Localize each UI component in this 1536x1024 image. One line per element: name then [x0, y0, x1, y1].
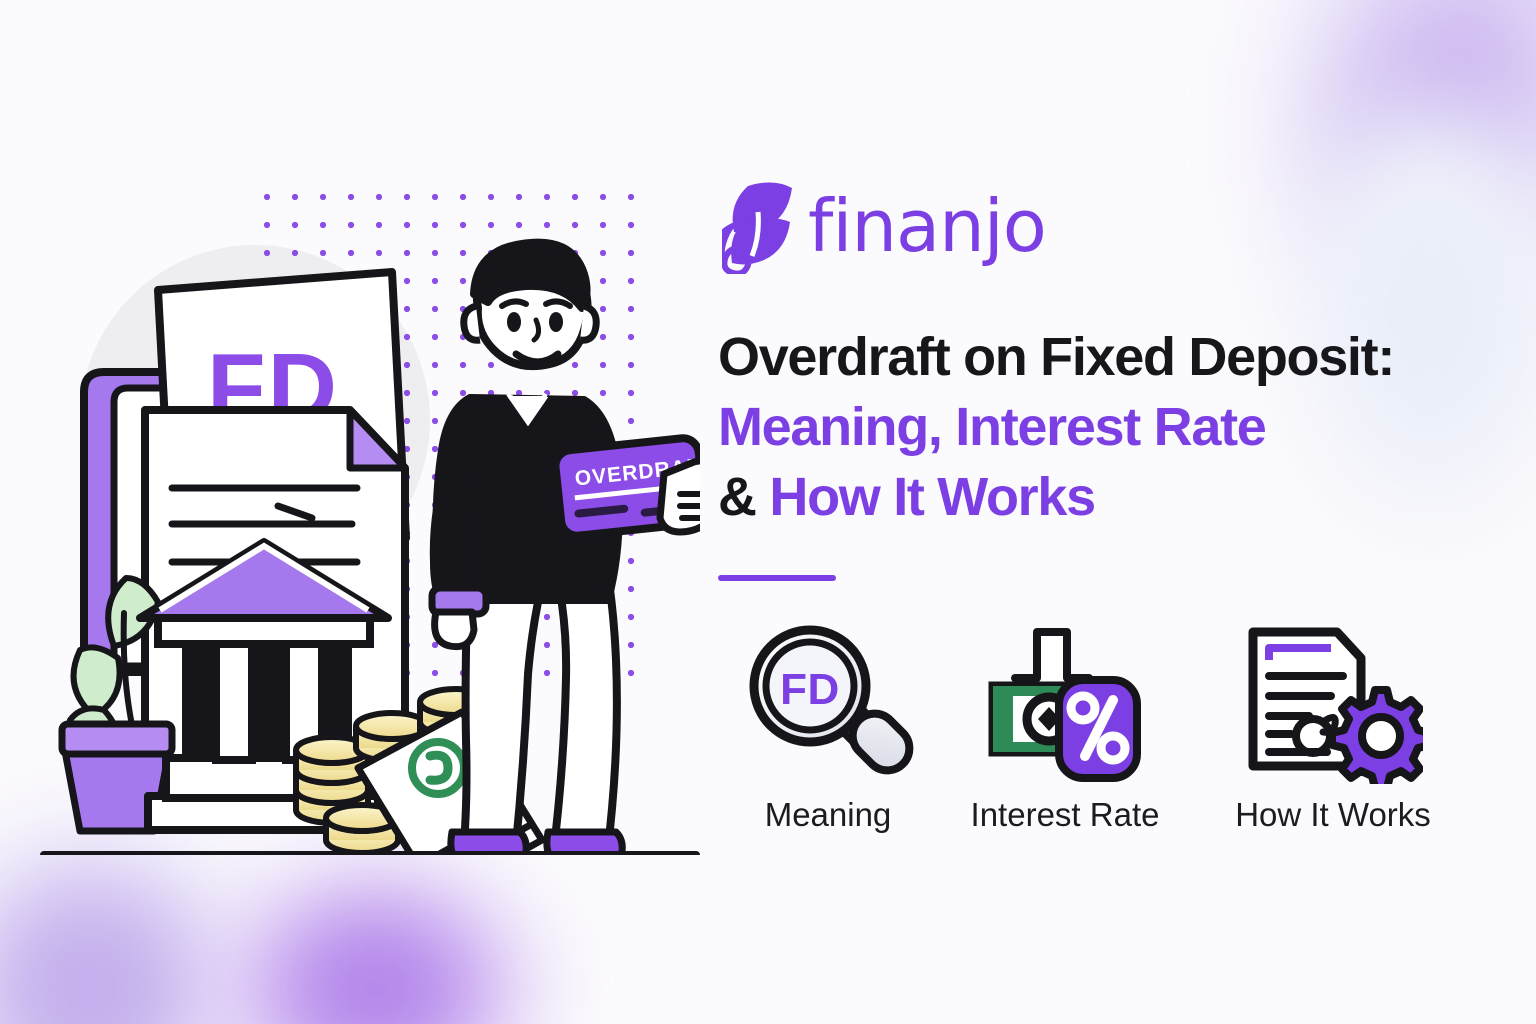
- banknote-percent-icon: [985, 624, 1145, 784]
- brand-logo[interactable]: finanjo: [722, 178, 1046, 274]
- content-column: finanjo Overdraft on Fixed Deposit: Mean…: [716, 0, 1516, 1024]
- feature-item-interest-rate[interactable]: Interest Rate: [940, 624, 1190, 831]
- headline-line-3-rest: How It Works: [769, 467, 1094, 527]
- banner-canvas: FD: [0, 0, 1536, 1024]
- magnifier-fd-icon: FD: [742, 624, 914, 784]
- person-illustration: OVERDRAFT: [430, 243, 700, 855]
- hero-illustration: FD: [40, 110, 700, 855]
- feature-row: FD Meaning: [716, 624, 1476, 831]
- headline-line-2: Meaning, Interest Rate: [718, 392, 1508, 462]
- feature-label-how-it-works: How It Works: [1235, 798, 1431, 831]
- ground-line: [40, 851, 700, 855]
- feature-item-meaning[interactable]: FD Meaning: [716, 624, 940, 831]
- title-divider: [718, 575, 836, 581]
- overdraft-card: OVERDRAFT: [554, 437, 700, 538]
- feature-label-interest-rate: Interest Rate: [971, 798, 1160, 831]
- headline-line-1: Overdraft on Fixed Deposit:: [718, 322, 1508, 392]
- feature-item-how-it-works[interactable]: How It Works: [1190, 624, 1476, 831]
- page-title: Overdraft on Fixed Deposit: Meaning, Int…: [718, 322, 1508, 532]
- headline-ampersand: &: [718, 467, 756, 527]
- headline-line-3: & How It Works: [718, 462, 1508, 532]
- finanjo-leaf-f-mark-icon: [722, 178, 794, 274]
- document-gear-icon: [1243, 624, 1423, 784]
- brand-name: finanjo: [808, 190, 1046, 262]
- svg-text:FD: FD: [780, 665, 840, 714]
- feature-label-meaning: Meaning: [765, 798, 892, 831]
